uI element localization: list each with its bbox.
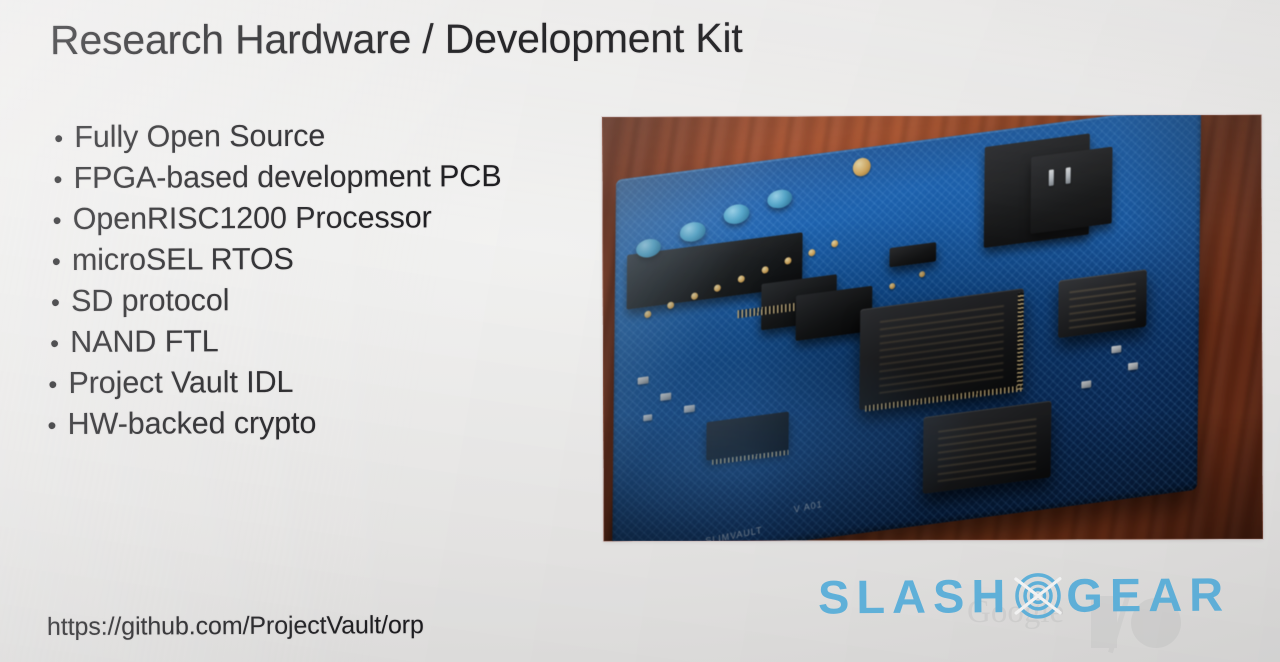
list-item: • HW-backed crypto xyxy=(1,405,581,449)
list-item: • FPGA-based development PCB xyxy=(0,159,580,203)
bullet-icon: • xyxy=(52,250,72,275)
list-item: • SD protocol xyxy=(0,282,580,326)
list-item-label: NAND FTL xyxy=(70,324,218,360)
bullet-icon: • xyxy=(48,373,68,398)
list-item: • NAND FTL xyxy=(0,323,580,367)
slashgear-brand-first: SLASH xyxy=(818,568,1013,624)
google-wordmark: Google xyxy=(967,594,1064,631)
bullet-icon: • xyxy=(51,291,71,316)
list-item-label: Fully Open Source xyxy=(74,119,325,155)
io-slash xyxy=(1108,593,1131,654)
list-item-label: FPGA-based development PCB xyxy=(73,159,501,196)
development-board-photo: V A01 SLIMVAULT xyxy=(602,115,1262,541)
list-item: • Fully Open Source xyxy=(0,118,579,162)
list-item: • Project Vault IDL xyxy=(0,364,580,408)
bullet-icon: • xyxy=(53,209,73,234)
list-item-label: OpenRISC1200 Processor xyxy=(73,200,432,237)
photo-shadow-overlay xyxy=(602,115,1262,541)
list-item: • microSEL RTOS xyxy=(0,241,580,285)
io-letter-o xyxy=(1131,598,1181,648)
bullet-icon: • xyxy=(53,168,73,193)
list-item-label: Project Vault IDL xyxy=(68,365,293,401)
radar-circles-icon xyxy=(1012,570,1064,620)
list-item-label: SD protocol xyxy=(71,283,229,319)
bullet-icon: • xyxy=(50,332,70,357)
slashgear-watermark: SLASH GEAR xyxy=(818,569,1230,622)
feature-bullet-list: • Fully Open Source • FPGA-based develop… xyxy=(0,118,581,449)
list-item-label: microSEL RTOS xyxy=(72,242,294,278)
repository-url: https://github.com/ProjectVault/orp xyxy=(47,611,424,642)
list-item: • OpenRISC1200 Processor xyxy=(0,200,580,244)
presentation-slide: Research Hardware / Development Kit • Fu… xyxy=(0,0,1280,662)
slide-title: Research Hardware / Development Kit xyxy=(50,15,743,64)
list-item-label: HW-backed crypto xyxy=(68,406,317,442)
io-letter-i xyxy=(1091,596,1117,648)
google-io-watermark: Google xyxy=(965,588,1215,662)
bullet-icon: • xyxy=(54,127,74,152)
bullet-icon: • xyxy=(48,414,68,439)
slashgear-brand-second: GEAR xyxy=(1066,566,1230,622)
